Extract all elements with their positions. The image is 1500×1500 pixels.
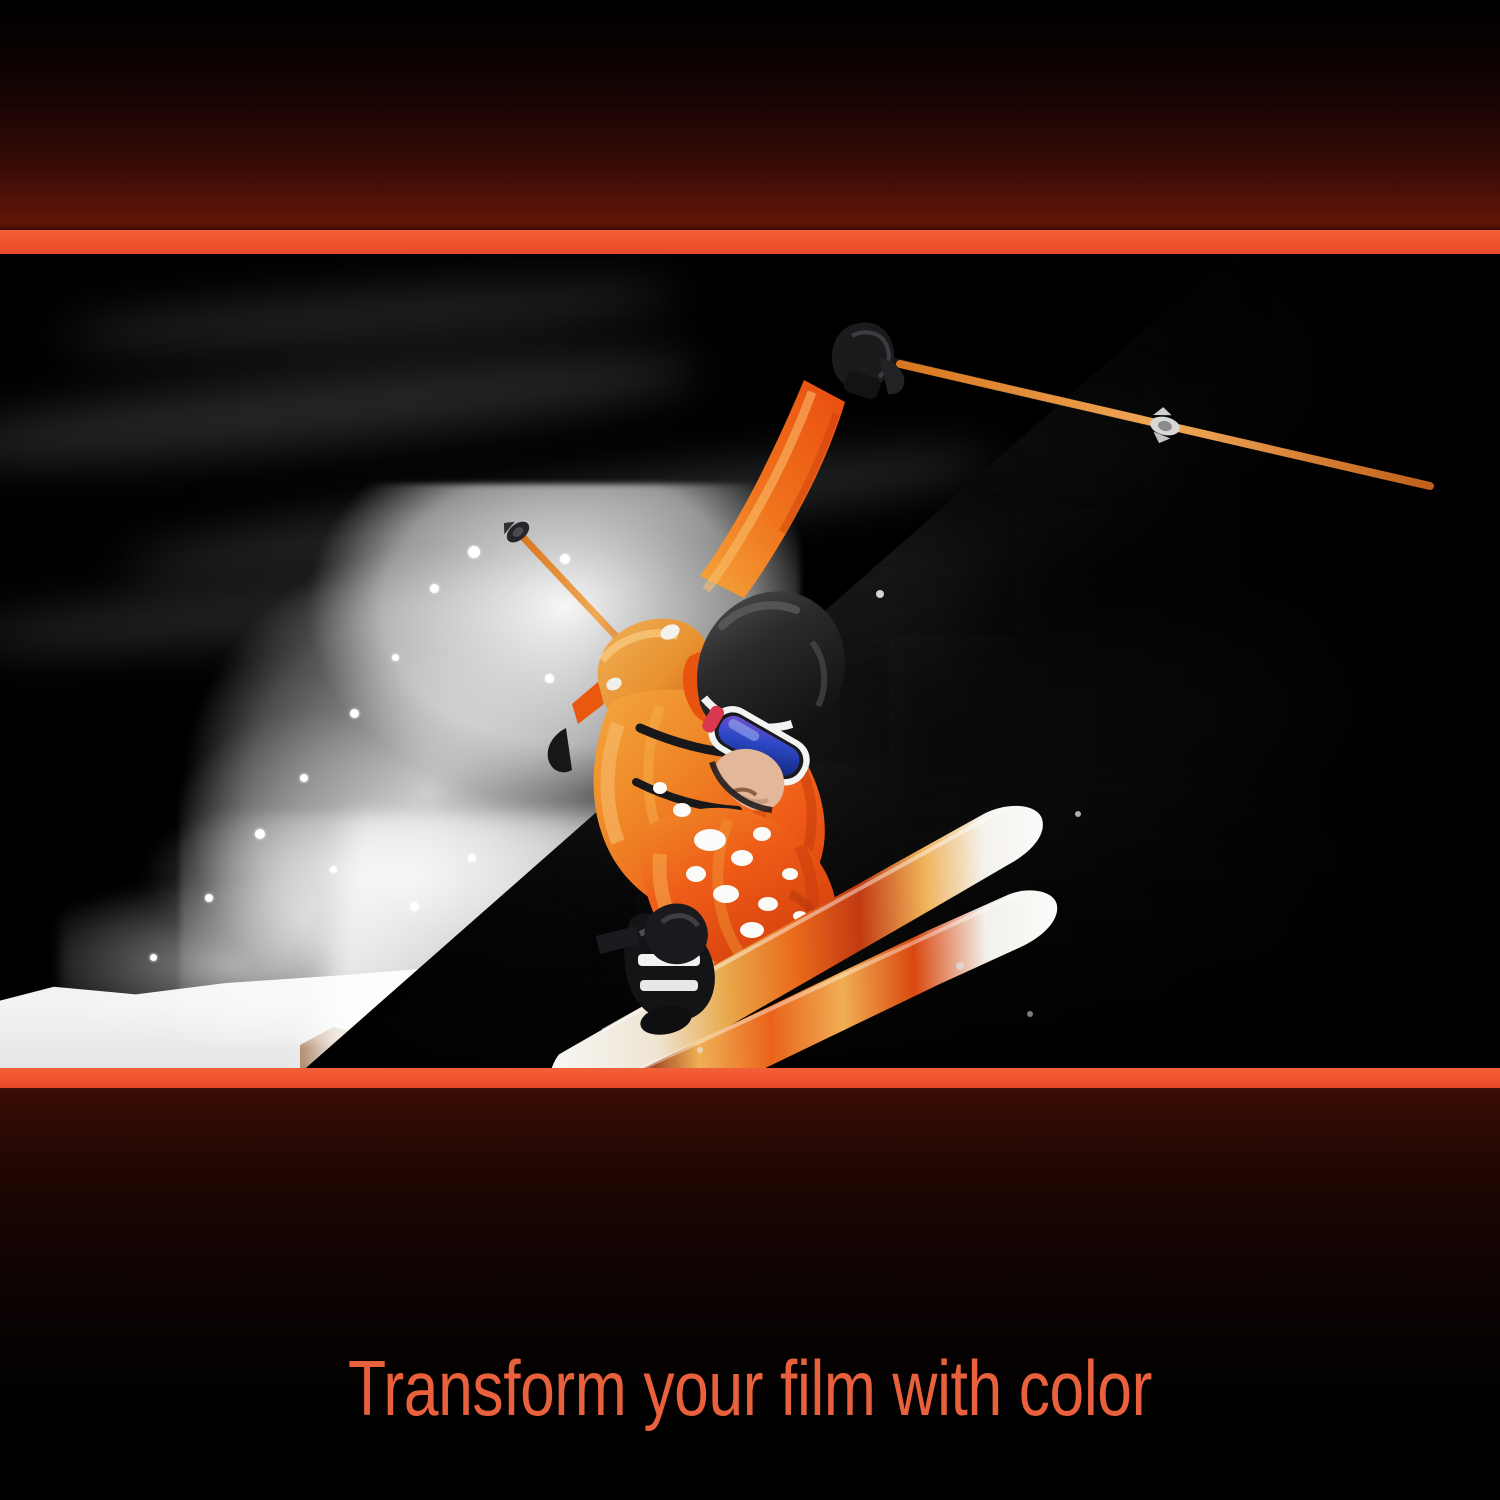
skier-head bbox=[695, 591, 845, 810]
snow-fleck bbox=[697, 1047, 703, 1053]
top-gradient-band bbox=[0, 0, 1500, 230]
hero-photo bbox=[0, 254, 1500, 1068]
caption-line-1: Transform your film with color bbox=[150, 1346, 1350, 1430]
snow-fleck bbox=[876, 590, 884, 598]
snow-fleck bbox=[956, 962, 964, 970]
top-accent-rule bbox=[0, 230, 1500, 254]
right-glove bbox=[832, 323, 904, 401]
promo-banner: Transform your film with color and hundr… bbox=[0, 0, 1500, 1500]
bottom-accent-rule bbox=[0, 1068, 1500, 1088]
right-arm-sleeve bbox=[700, 380, 845, 598]
pole-basket bbox=[1146, 405, 1183, 447]
promo-caption: Transform your film with color and hundr… bbox=[150, 1178, 1350, 1500]
snow-fleck bbox=[1027, 1011, 1033, 1017]
skier-figure bbox=[0, 254, 1500, 1068]
snow-fleck bbox=[1075, 811, 1081, 817]
ski-pole-upper bbox=[893, 362, 1430, 486]
